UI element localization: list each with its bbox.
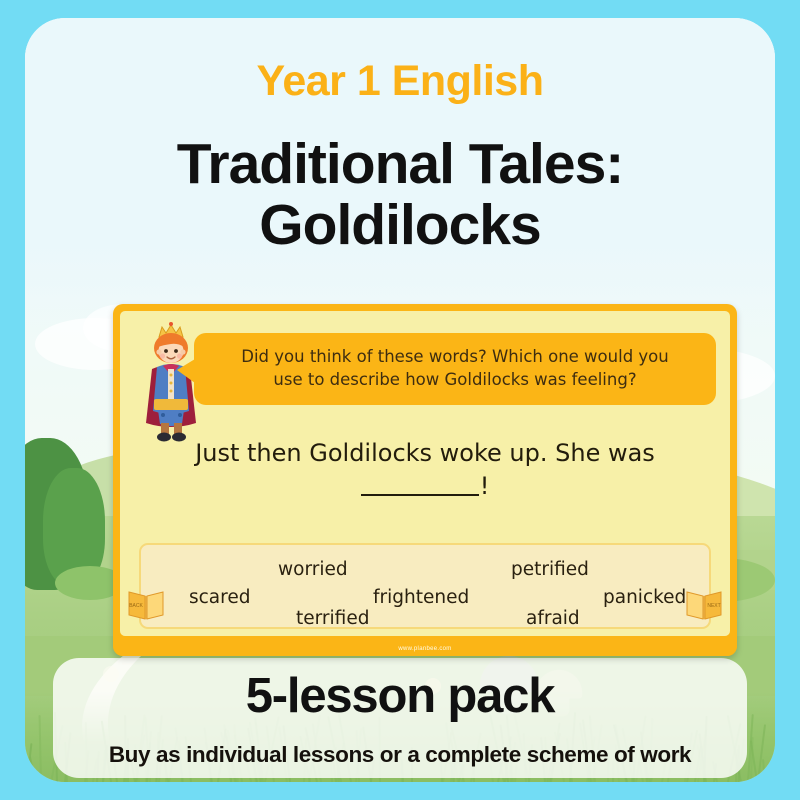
word-bank-word[interactable]: worried	[278, 559, 348, 580]
promo-card-root: Year 1 English Traditional Tales: Goldil…	[0, 0, 800, 800]
lesson-slide-preview[interactable]: Did you think of these words? Which one …	[113, 304, 737, 656]
word-bank-word[interactable]: panicked	[603, 587, 686, 608]
word-bank-word[interactable]: afraid	[526, 608, 580, 629]
word-bank: scaredworriedterrifiedfrightenedpetrifie…	[139, 543, 711, 629]
next-book-label: NEXT	[707, 603, 720, 609]
slide-footer: www.planbee.com	[113, 643, 737, 656]
back-book-label: BACK	[129, 603, 143, 609]
pack-title: 5-lesson pack	[25, 672, 775, 721]
page-title-line1: Traditional Tales:	[25, 134, 775, 195]
inner-card: Year 1 English Traditional Tales: Goldil…	[25, 18, 775, 782]
sentence-line2: !	[142, 470, 708, 503]
back-book-icon[interactable]: BACK	[126, 586, 166, 622]
sentence-line1: Just then Goldilocks woke up. She was	[142, 437, 708, 470]
word-bank-word[interactable]: terrified	[296, 608, 369, 629]
page-title-line2: Goldilocks	[25, 195, 775, 256]
speech-bubble-line2: use to describe how Goldilocks was feeli…	[210, 368, 700, 391]
slide-footer-url: www.planbee.com	[113, 643, 737, 656]
slide-inner: Did you think of these words? Which one …	[120, 311, 730, 636]
speech-bubble-line1: Did you think of these words? Which one …	[210, 345, 700, 368]
speech-bubble: Did you think of these words? Which one …	[194, 333, 716, 405]
sentence-prompt: Just then Goldilocks woke up. She was !	[142, 437, 708, 503]
fill-in-blank[interactable]	[361, 494, 479, 496]
sentence-blank-suffix: !	[480, 472, 490, 500]
next-book-icon[interactable]: NEXT	[684, 586, 724, 622]
pack-subtitle: Buy as individual lessons or a complete …	[25, 744, 775, 767]
page-title: Traditional Tales: Goldilocks	[25, 134, 775, 256]
word-bank-word[interactable]: petrified	[511, 559, 589, 580]
word-bank-word[interactable]: scared	[189, 587, 250, 608]
word-bank-word[interactable]: frightened	[373, 587, 469, 608]
subject-eyebrow: Year 1 English	[25, 60, 775, 103]
